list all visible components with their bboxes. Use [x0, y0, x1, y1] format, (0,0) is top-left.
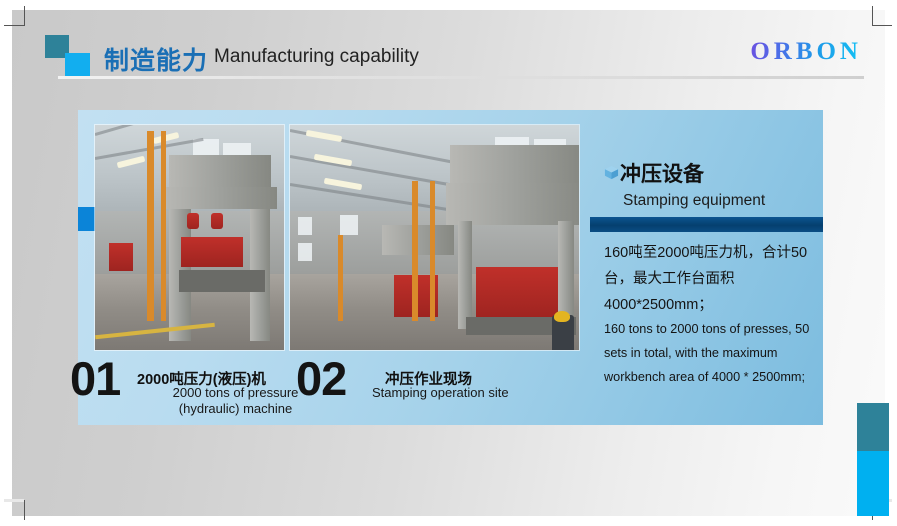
- photo-press-red-bolster: [181, 237, 243, 267]
- item-number-01: 01: [70, 355, 120, 402]
- info-body-en: 160 tons to 2000 tons of presses, 50 set…: [604, 317, 818, 389]
- photo-window: [298, 243, 312, 261]
- decoration-block-teal: [857, 403, 889, 451]
- photo-window: [340, 215, 358, 235]
- photo-safety-ladder: [430, 181, 435, 321]
- item-number-02: 02: [296, 355, 346, 402]
- header-divider: [58, 76, 864, 79]
- photo-machine-base: [179, 270, 265, 292]
- photo-hydraulic-press: [95, 125, 284, 350]
- header-square-light: [65, 53, 90, 77]
- photo-press-beam: [446, 183, 579, 225]
- brand-logo: ORBON: [750, 38, 862, 66]
- crop-mark-top-left-h: [4, 25, 24, 26]
- crop-mark-top-right-h: [872, 25, 892, 26]
- page-title-cn: 制造能力: [104, 41, 208, 77]
- crop-mark-top-right-v: [872, 6, 873, 26]
- photo-safety-helmet: [554, 311, 570, 322]
- slide: 制造能力 Manufacturing capability ORBON: [0, 0, 897, 526]
- photo-press-beam: [165, 187, 277, 209]
- info-body-cn: 160吨至2000吨压力机，合计50台，最大工作台面积4000*2500mm；: [604, 240, 816, 318]
- photo-safety-ladder: [161, 131, 166, 321]
- item-caption-en-02: Stamping operation site: [372, 385, 509, 401]
- photo-safety-ladder: [338, 235, 343, 321]
- info-heading-en: Stamping equipment: [623, 192, 765, 210]
- crop-mark-top-left-v: [24, 6, 25, 26]
- photo-safety-ladder: [412, 181, 418, 321]
- photo-press-red-cylinder: [211, 213, 223, 229]
- info-block: 冲压设备 Stamping equipment 160吨至2000吨压力机，合计…: [590, 110, 823, 425]
- photo-press-red-bolster: [476, 267, 558, 319]
- photo-safety-ladder: [147, 131, 154, 321]
- photo-press-column: [458, 221, 472, 329]
- crop-mark-bottom-left-v: [24, 500, 25, 520]
- page-title-en: Manufacturing capability: [214, 46, 419, 68]
- info-divider-bar: [590, 217, 823, 232]
- photo-press-red-cylinder: [187, 213, 199, 229]
- photo-window: [298, 217, 312, 235]
- decoration-block-cyan: [857, 451, 889, 516]
- info-heading-cn: 冲压设备: [620, 158, 704, 188]
- cube-icon: [604, 165, 619, 180]
- photo-press-red-bolster: [109, 243, 133, 271]
- crop-mark-bottom-left-h: [4, 499, 24, 502]
- photo-press-crown: [382, 225, 454, 255]
- photo-stamping-site: [290, 125, 579, 350]
